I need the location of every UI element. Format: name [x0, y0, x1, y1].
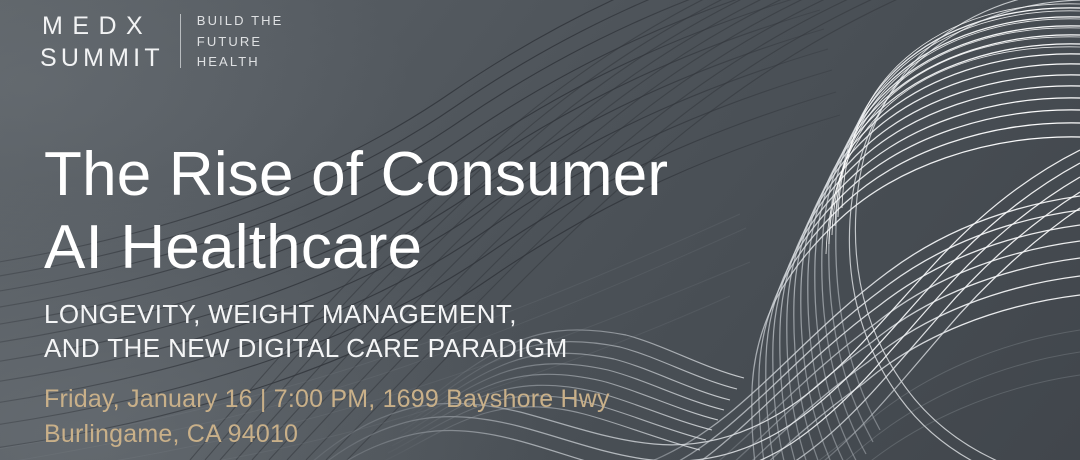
logo-tagline-line2: FUTURE — [197, 32, 284, 53]
event-title-line1: The Rise of Consumer — [44, 138, 804, 211]
ribbon-echo — [726, 330, 1080, 460]
logo-wordmark: MEDX SUMMIT — [40, 10, 180, 74]
event-details: Friday, January 16 | 7:00 PM, 1699 Baysh… — [44, 382, 764, 451]
brand-logo[interactable]: MEDX SUMMIT BUILD THE FUTURE HEALTH — [40, 10, 283, 74]
event-city-state-zip: Burlingame, CA 94010 — [44, 417, 764, 452]
logo-tagline-line1: BUILD THE — [197, 11, 284, 32]
logo-tagline-line3: HEALTH — [197, 52, 284, 73]
event-subtitle: LONGEVITY, WEIGHT MANAGEMENT, AND THE NE… — [44, 298, 744, 366]
logo-tagline: BUILD THE FUTURE HEALTH — [181, 10, 284, 74]
event-title: The Rise of Consumer AI Healthcare — [44, 138, 804, 284]
ribbon-waist — [849, 0, 1080, 460]
logo-name-line1: MEDX — [40, 10, 164, 42]
ribbon-crest-detail — [826, 4, 1080, 254]
event-title-line2: AI Healthcare — [44, 211, 804, 284]
logo-name-line2: SUMMIT — [40, 42, 164, 74]
event-datetime-address: Friday, January 16 | 7:00 PM, 1699 Baysh… — [44, 382, 764, 417]
event-subtitle-line1: LONGEVITY, WEIGHT MANAGEMENT, — [44, 298, 744, 332]
event-banner: MEDX SUMMIT BUILD THE FUTURE HEALTH The … — [0, 0, 1080, 460]
event-subtitle-line2: AND THE NEW DIGITAL CARE PARADIGM — [44, 332, 744, 366]
